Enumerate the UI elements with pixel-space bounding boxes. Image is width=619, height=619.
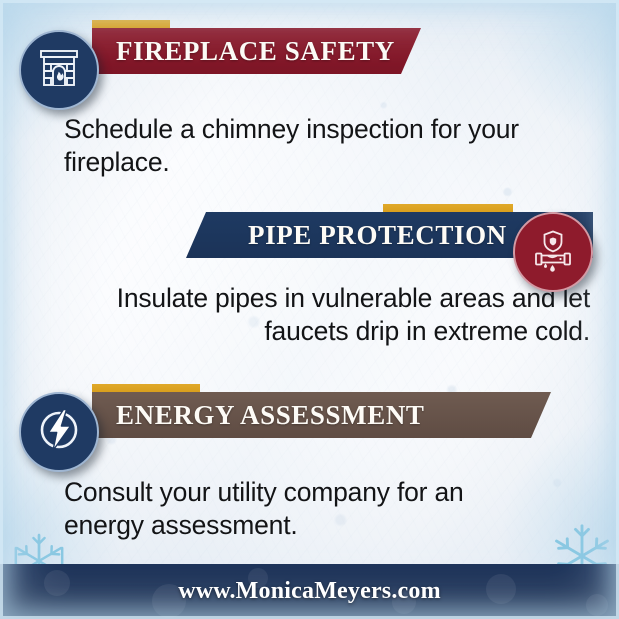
energy-banner-row: ENERGY ASSESSMENT [92, 392, 527, 438]
fireplace-banner: FIREPLACE SAFETY [92, 28, 421, 74]
lightning-bolt-icon [33, 404, 85, 461]
energy-body-text: Consult your utility company for an ener… [64, 476, 534, 543]
fireplace-banner-row: FIREPLACE SAFETY [92, 28, 397, 74]
pipe-banner-row: PIPE PROTECTION [186, 212, 531, 258]
website-url[interactable]: www.MonicaMeyers.com [178, 578, 441, 605]
energy-badge [19, 392, 99, 472]
energy-title: ENERGY ASSESSMENT [116, 400, 425, 431]
fireplace-badge [19, 30, 99, 110]
section-pipe-protection: PIPE PROTECTION Insulate pipes in vulner… [0, 212, 619, 258]
gold-accent-strip [383, 204, 513, 212]
pipe-title: PIPE PROTECTION [248, 220, 507, 251]
bokeh-dot [44, 570, 70, 596]
gold-accent-strip [92, 384, 200, 392]
pipe-badge [513, 212, 593, 292]
footer-bar: www.MonicaMeyers.com [0, 564, 619, 619]
bokeh-dot [486, 574, 516, 604]
poster-canvas: FIREPLACE SAFETY Schedule a chimney insp… [0, 0, 619, 619]
fireplace-title: FIREPLACE SAFETY [116, 36, 395, 67]
section-energy-assessment: ENERGY ASSESSMENT Consult your utility c… [0, 392, 619, 438]
energy-banner: ENERGY ASSESSMENT [92, 392, 551, 438]
fireplace-icon [35, 44, 83, 97]
bokeh-dot [586, 594, 608, 616]
fireplace-body-text: Schedule a chimney inspection for your f… [64, 113, 534, 180]
shield-pipe-icon [528, 225, 578, 280]
section-fireplace-safety: FIREPLACE SAFETY Schedule a chimney insp… [0, 28, 619, 74]
pipe-body-text: Insulate pipes in vulnerable areas and l… [45, 282, 590, 349]
gold-accent-strip [92, 20, 170, 28]
